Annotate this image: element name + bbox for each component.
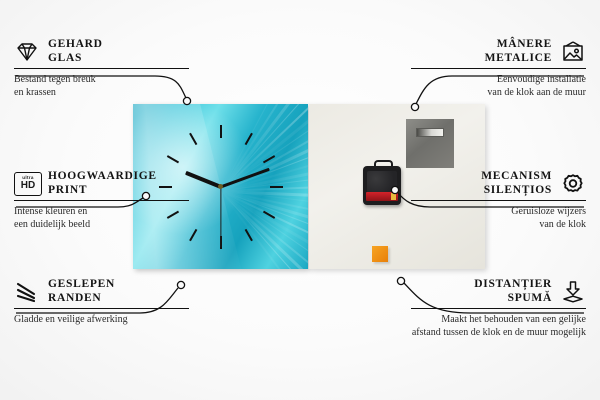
callout-manere-metalice: MÂNERE METALICE Eenvoudige installatie v… (411, 38, 586, 99)
ground-edges-icon (14, 280, 40, 304)
callout-rule (14, 308, 189, 309)
callout-title-line2: RANDEN (48, 292, 115, 306)
gear-icon (560, 172, 586, 196)
foam-spacer (372, 246, 388, 262)
callout-rule (411, 68, 586, 69)
callout-geslepen-randen: GESLEPEN RANDEN Gladde en veilige afwerk… (14, 278, 189, 327)
callout-title-line2: SILENȚIOS (481, 184, 552, 198)
battery (366, 192, 398, 201)
callout-desc-line1: Bestand tegen breuk (14, 74, 189, 87)
center-pin (218, 184, 223, 189)
infographic-stage: GEHARD GLAS Bestand tegen breuk en krass… (0, 0, 600, 400)
callout-rule (14, 200, 189, 201)
callout-title-line2: METALICE (485, 52, 552, 66)
hd-badge-large: HD (21, 181, 35, 191)
callout-rule (14, 68, 189, 69)
spacer-arrow-icon (560, 280, 586, 304)
movement-bail (374, 160, 393, 171)
hanger-slot (416, 128, 444, 137)
clock-tick (221, 186, 283, 188)
callout-desc-line2: van de klok (411, 219, 586, 232)
diamond-icon (14, 40, 40, 64)
callout-desc-line1: Intense kleuren en (14, 206, 189, 219)
quartz-movement (363, 166, 401, 205)
callout-desc-line1: Gladde en veilige afwerking (14, 314, 189, 327)
callout-desc-line2: en krassen (14, 87, 189, 100)
callout-rule (411, 200, 586, 201)
ultra-hd-icon: ultra HD (14, 172, 40, 196)
callout-hoogwaardige-print: ultra HD HOOGWAARDIGE PRINT Intense kleu… (14, 170, 189, 231)
callout-mecanism-silentios: MECANISM SILENȚIOS Geruisloze wijzers va… (411, 170, 586, 231)
callout-title-line2: PRINT (48, 184, 157, 198)
callout-title-line1: GEHARD (48, 38, 103, 52)
callout-title-line2: GLAS (48, 52, 103, 66)
callout-title-line1: DISTANȚIER (474, 278, 552, 292)
movement-body (367, 171, 397, 193)
picture-frame-icon (560, 40, 586, 64)
callout-rule (411, 308, 586, 309)
connector-endpoint-spacer (397, 277, 404, 284)
metal-hanger-plate (406, 119, 454, 168)
clock-tick (220, 125, 222, 187)
callout-distantier-spuma: DISTANȚIER SPUMĂ Maakt het behouden van … (411, 278, 586, 339)
second-hand (220, 187, 221, 247)
callout-title-line1: MECANISM (481, 170, 552, 184)
callout-desc-line1: Geruisloze wijzers (411, 206, 586, 219)
callout-desc-line2: van de klok aan de muur (411, 87, 586, 100)
callout-title-line1: HOOGWAARDIGE (48, 170, 157, 184)
callout-gehard-glas: GEHARD GLAS Bestand tegen breuk en krass… (14, 38, 189, 99)
callout-desc-line2: afstand tussen de klok en de muur mogeli… (411, 327, 586, 340)
callout-title-line1: MÂNERE (485, 38, 552, 52)
callout-title-line2: SPUMĂ (474, 292, 552, 306)
callout-desc-line1: Eenvoudige installatie (411, 74, 586, 87)
callout-desc-line1: Maakt het behouden van een gelijke (411, 314, 586, 327)
callout-desc-line2: een duidelijk beeld (14, 219, 189, 232)
callout-title-line1: GESLEPEN (48, 278, 115, 292)
